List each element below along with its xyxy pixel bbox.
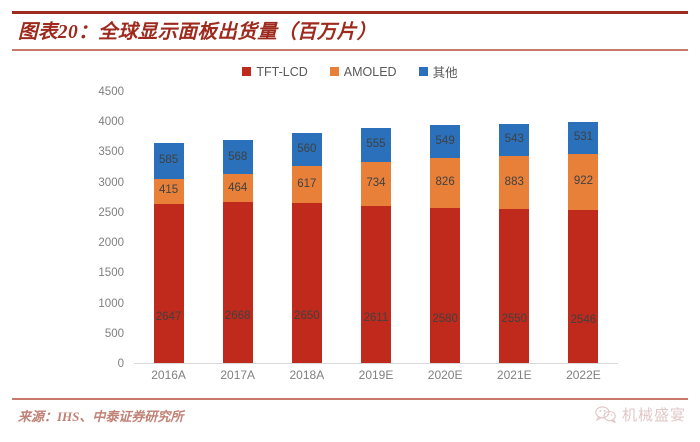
watermark-label: 机械盛宴: [622, 404, 686, 425]
legend-item-tft-lcd[interactable]: TFT-LCD: [242, 65, 307, 79]
bar-segment-tft-lcd[interactable]: 2647: [154, 204, 184, 363]
bar-segment-tft-lcd[interactable]: 2546: [568, 210, 598, 363]
bar-value-label: 464: [228, 183, 247, 195]
y-axis-tick-label: 4000: [98, 116, 124, 128]
bar-segment-amoled[interactable]: 464: [223, 174, 253, 202]
x-axis-labels: 2016A2017A2018A2019E2020E2021E2022E: [134, 368, 618, 382]
legend-item--[interactable]: 其他: [419, 62, 458, 81]
bar-segment-amoled[interactable]: 883: [499, 156, 529, 209]
legend-label: TFT-LCD: [256, 65, 307, 79]
bar-segment-amoled[interactable]: 826: [430, 158, 460, 208]
bar-slot: 5498262580: [411, 92, 480, 363]
y-axis-tick-label: 4500: [98, 86, 124, 98]
bar-slot: 5438832550: [480, 92, 549, 363]
bar-value-label: 2650: [294, 311, 320, 323]
bar-value-label: 617: [297, 179, 316, 191]
bar-value-label: 2550: [501, 314, 527, 326]
grid-area: 5854152647568464266856061726505557342611…: [134, 92, 618, 364]
bar-segment--[interactable]: 585: [154, 143, 184, 178]
bar-value-label: 568: [228, 152, 247, 164]
bar-value-label: 585: [159, 155, 178, 167]
y-axis-tick-label: 2500: [98, 207, 124, 219]
bar-value-label: 2546: [571, 315, 597, 327]
x-axis-tick-label: 2019E: [341, 368, 410, 382]
bar-value-label: 734: [366, 178, 385, 190]
bar-slot: 5854152647: [134, 92, 203, 363]
bar-segment-tft-lcd[interactable]: 2650: [292, 203, 322, 363]
bar-stack[interactable]: 5557342611: [361, 128, 391, 363]
bar-value-label: 2668: [225, 311, 251, 323]
bar-stack[interactable]: 5606172650: [292, 133, 322, 363]
bar-value-label: 2580: [432, 314, 458, 326]
bar-value-label: 555: [366, 139, 385, 151]
bar-stack[interactable]: 5498262580: [430, 125, 460, 363]
bar-value-label: 560: [297, 144, 316, 156]
legend-item-amoled[interactable]: AMOLED: [330, 65, 397, 79]
bar-value-label: 883: [505, 177, 524, 189]
bar-segment-tft-lcd[interactable]: 2550: [499, 209, 529, 363]
x-axis-tick-label: 2020E: [411, 368, 480, 382]
bar-value-label: 2647: [156, 312, 182, 324]
bar-segment-amoled[interactable]: 922: [568, 154, 598, 210]
bar-value-label: 543: [505, 134, 524, 146]
legend-swatch-icon: [242, 67, 251, 76]
legend-label: AMOLED: [344, 65, 397, 79]
y-axis-tick-label: 500: [105, 328, 124, 340]
bar-segment-tft-lcd[interactable]: 2668: [223, 202, 253, 363]
bar-stack[interactable]: 5854152647: [154, 143, 184, 363]
bar-segment--[interactable]: 555: [361, 128, 391, 161]
bar-slot: 5319222546: [549, 92, 618, 363]
title-underline-rule: [12, 49, 688, 51]
bar-segment-tft-lcd[interactable]: 2580: [430, 208, 460, 363]
bar-segment--[interactable]: 560: [292, 133, 322, 167]
bar-segment-amoled[interactable]: 734: [361, 162, 391, 206]
bar-value-label: 531: [574, 132, 593, 144]
bar-segment-tft-lcd[interactable]: 2611: [361, 206, 391, 363]
bar-segment-amoled[interactable]: 617: [292, 166, 322, 203]
bar-value-label: 415: [159, 185, 178, 197]
watermark: 机械盛宴: [595, 404, 686, 425]
top-rule: [12, 11, 688, 14]
bar-slot: 5684642668: [203, 92, 272, 363]
legend-swatch-icon: [330, 67, 339, 76]
bar-value-label: 2611: [364, 313, 389, 325]
figure-panel: 图表20：全球显示面板出货量（百万片） TFT-LCDAMOLED其他 0500…: [0, 0, 700, 442]
y-axis-tick-label: 3000: [98, 177, 124, 189]
legend-swatch-icon: [419, 67, 428, 76]
source-note: 来源：IHS、中泰证券研究所: [18, 406, 183, 425]
plot-area: 050010001500200025003000350040004500 585…: [88, 92, 618, 364]
bar-value-label: 549: [436, 136, 455, 148]
bar-value-label: 826: [436, 177, 455, 189]
x-axis-tick-label: 2016A: [134, 368, 203, 382]
bar-segment--[interactable]: 543: [499, 124, 529, 157]
bar-stack[interactable]: 5438832550: [499, 124, 529, 363]
wechat-icon: [595, 406, 617, 423]
page-title: 图表20：全球显示面板出货量（百万片）: [18, 18, 678, 48]
x-axis-tick-label: 2017A: [203, 368, 272, 382]
y-axis-tick-label: 2000: [98, 237, 124, 249]
bar-stack[interactable]: 5319222546: [568, 122, 598, 363]
x-axis-tick-label: 2018A: [272, 368, 341, 382]
bar-segment-amoled[interactable]: 415: [154, 179, 184, 204]
y-axis-tick-label: 3500: [98, 146, 124, 158]
bar-segment--[interactable]: 568: [223, 140, 253, 174]
legend-label: 其他: [433, 62, 458, 81]
y-axis: 050010001500200025003000350040004500: [88, 92, 128, 364]
bar-stack[interactable]: 5684642668: [223, 140, 253, 363]
chart-legend: TFT-LCDAMOLED其他: [0, 62, 700, 81]
y-axis-tick-label: 1000: [98, 298, 124, 310]
bottom-rule: [12, 398, 688, 400]
bar-value-label: 922: [574, 176, 593, 188]
x-axis-line: [134, 363, 618, 364]
bar-slot: 5606172650: [272, 92, 341, 363]
bar-slot: 5557342611: [341, 92, 410, 363]
y-axis-tick-label: 1500: [98, 267, 124, 279]
x-axis-tick-label: 2022E: [549, 368, 618, 382]
y-axis-tick-label: 0: [118, 358, 124, 370]
bar-group: 5854152647568464266856061726505557342611…: [134, 92, 618, 363]
bar-segment--[interactable]: 549: [430, 125, 460, 158]
bar-segment--[interactable]: 531: [568, 122, 598, 154]
x-axis-tick-label: 2021E: [480, 368, 549, 382]
